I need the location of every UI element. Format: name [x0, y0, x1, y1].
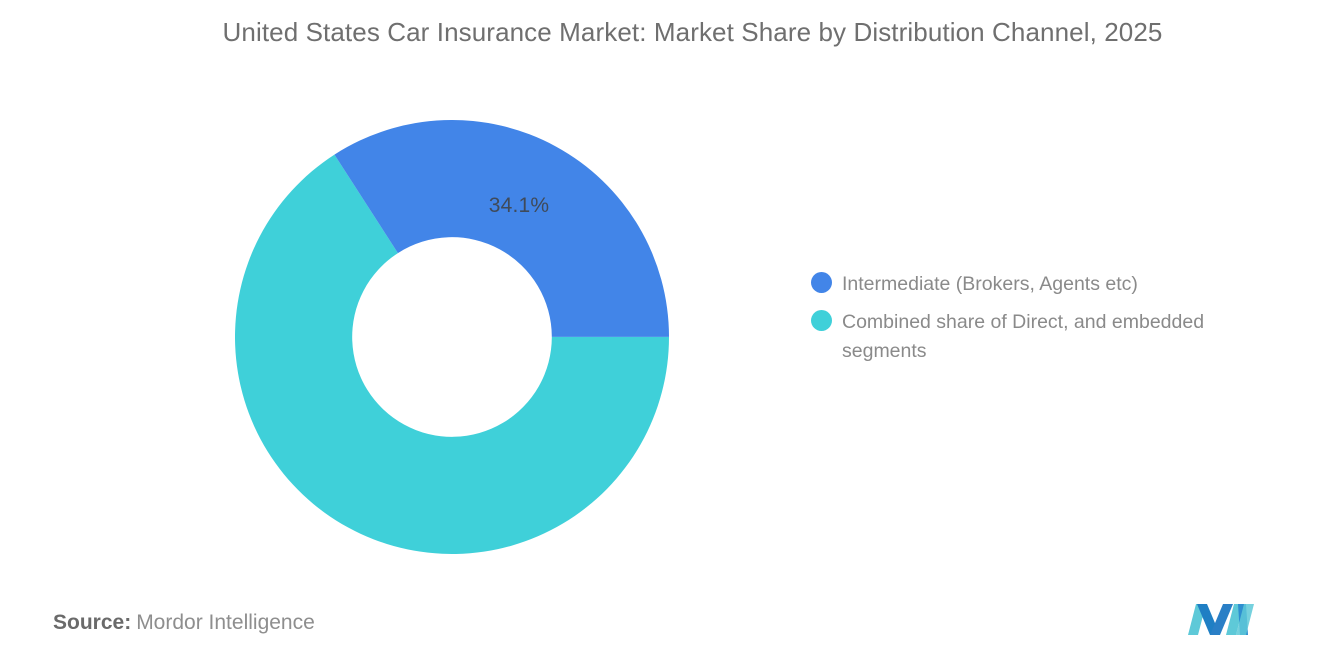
chart-legend: Intermediate (Brokers, Agents etc) Combi… — [811, 270, 1281, 375]
donut-chart-svg — [235, 120, 669, 554]
donut-slice-intermediate[interactable] — [334, 120, 669, 337]
source-label: Source: — [53, 611, 131, 634]
legend-item-intermediate[interactable]: Intermediate (Brokers, Agents etc) — [811, 270, 1281, 299]
donut-chart — [235, 120, 669, 554]
legend-color-swatch-icon — [811, 272, 832, 293]
donut-slice-label-intermediate: 34.1% — [457, 194, 581, 218]
legend-item-label: Intermediate (Brokers, Agents etc) — [842, 270, 1138, 299]
mordor-intelligence-logo-icon — [1186, 598, 1256, 638]
source-attribution: Source:Mordor Intelligence — [53, 611, 315, 635]
page-title: United States Car Insurance Market: Mark… — [175, 12, 1210, 52]
legend-item-combined-direct-embedded[interactable]: Combined share of Direct, and embedded s… — [811, 308, 1281, 366]
legend-item-label: Combined share of Direct, and embedded s… — [842, 308, 1270, 366]
legend-color-swatch-icon — [811, 310, 832, 331]
source-value: Mordor Intelligence — [136, 611, 315, 634]
